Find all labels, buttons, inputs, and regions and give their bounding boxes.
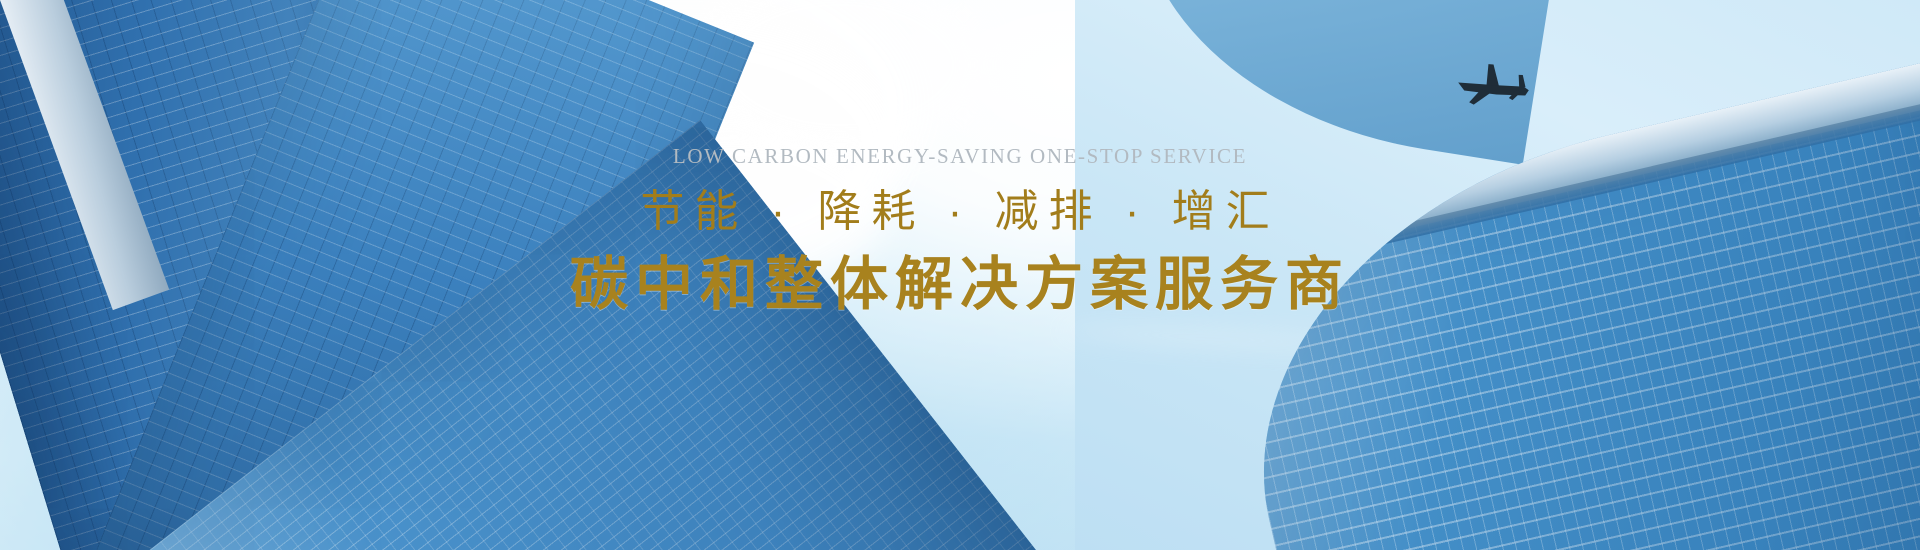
- airplane-icon: [1452, 62, 1532, 114]
- hero-banner: LOW CARBON ENERGY-SAVING ONE-STOP SERVIC…: [0, 0, 1920, 550]
